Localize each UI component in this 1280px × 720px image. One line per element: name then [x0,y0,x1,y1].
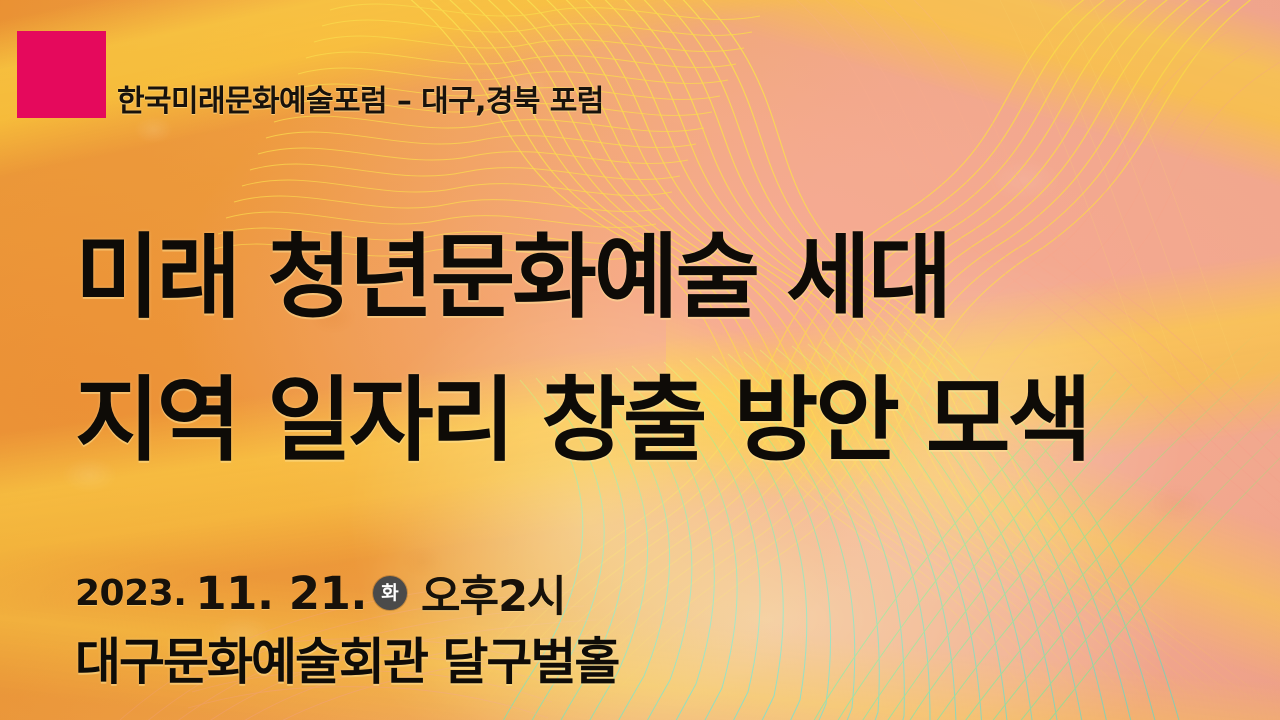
weekday-badge: 화 [373,576,407,610]
poster-title-line-1: 미래 청년문화예술 세대 [75,232,949,324]
event-month-day: 11. 21. [195,567,367,620]
poster-title-line-2: 지역 일자리 창출 방안 모색 [75,375,1089,467]
poster-content: 한국미래문화예술포럼 – 대구,경북 포럼 미래 청년문화예술 세대 지역 일자… [0,0,1280,720]
event-poster: 한국미래문화예술포럼 – 대구,경북 포럼 미래 청년문화예술 세대 지역 일자… [0,0,1280,720]
event-venue: 대구문화예술회관 달구벌홀 [75,622,618,694]
brand-mark-square [17,31,106,118]
event-datetime: 2023. 11. 21. 화 오후2시 [75,562,566,624]
event-year: 2023. [75,573,186,614]
event-time: 오후2시 [421,562,566,624]
organization-header: 한국미래문화예술포럼 – 대구,경북 포럼 [117,76,604,120]
weekday-badge-label: 화 [381,584,398,603]
